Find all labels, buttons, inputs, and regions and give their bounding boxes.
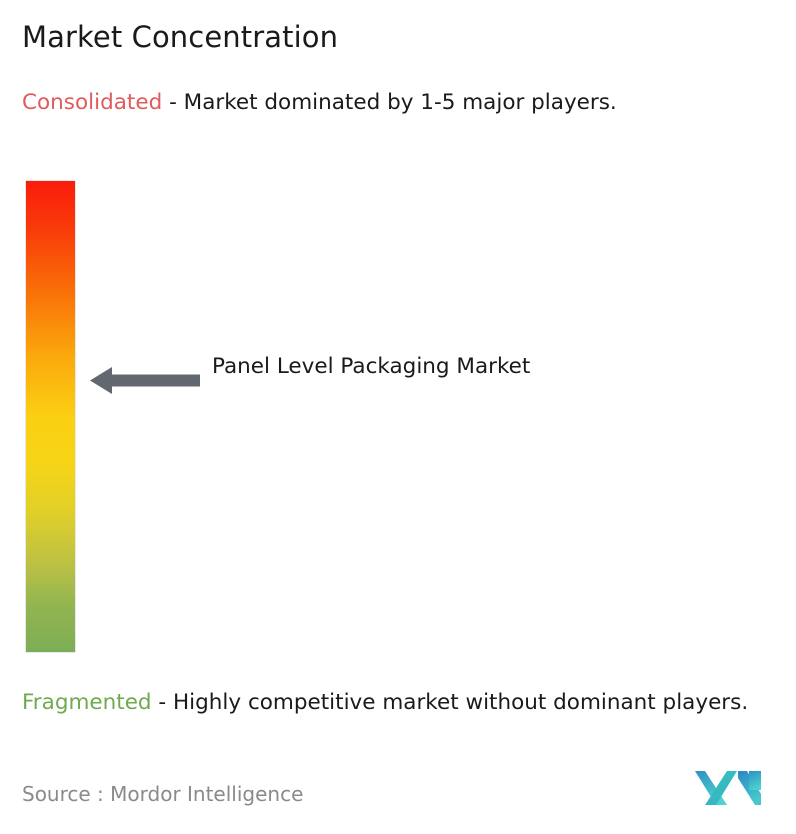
page-title: Market Concentration [22, 20, 338, 54]
legend-consolidated-description: - Market dominated by 1-5 major players. [169, 90, 617, 115]
left-arrow-icon [90, 366, 200, 395]
legend-fragmented-keyword: Fragmented [22, 690, 152, 715]
legend-consolidated-keyword: Consolidated [22, 90, 162, 115]
legend-fragmented-description: - Highly competitive market without domi… [158, 690, 748, 715]
mordor-intelligence-logo-icon [694, 766, 762, 806]
legend-fragmented: Fragmented - Highly competitive market w… [22, 686, 790, 719]
callout-label: Panel Level Packaging Market [212, 350, 572, 384]
legend-consolidated: Consolidated - Market dominated by 1-5 m… [22, 86, 790, 119]
source-note: Source : Mordor Intelligence [22, 782, 303, 806]
concentration-gradient-bar [26, 181, 75, 652]
